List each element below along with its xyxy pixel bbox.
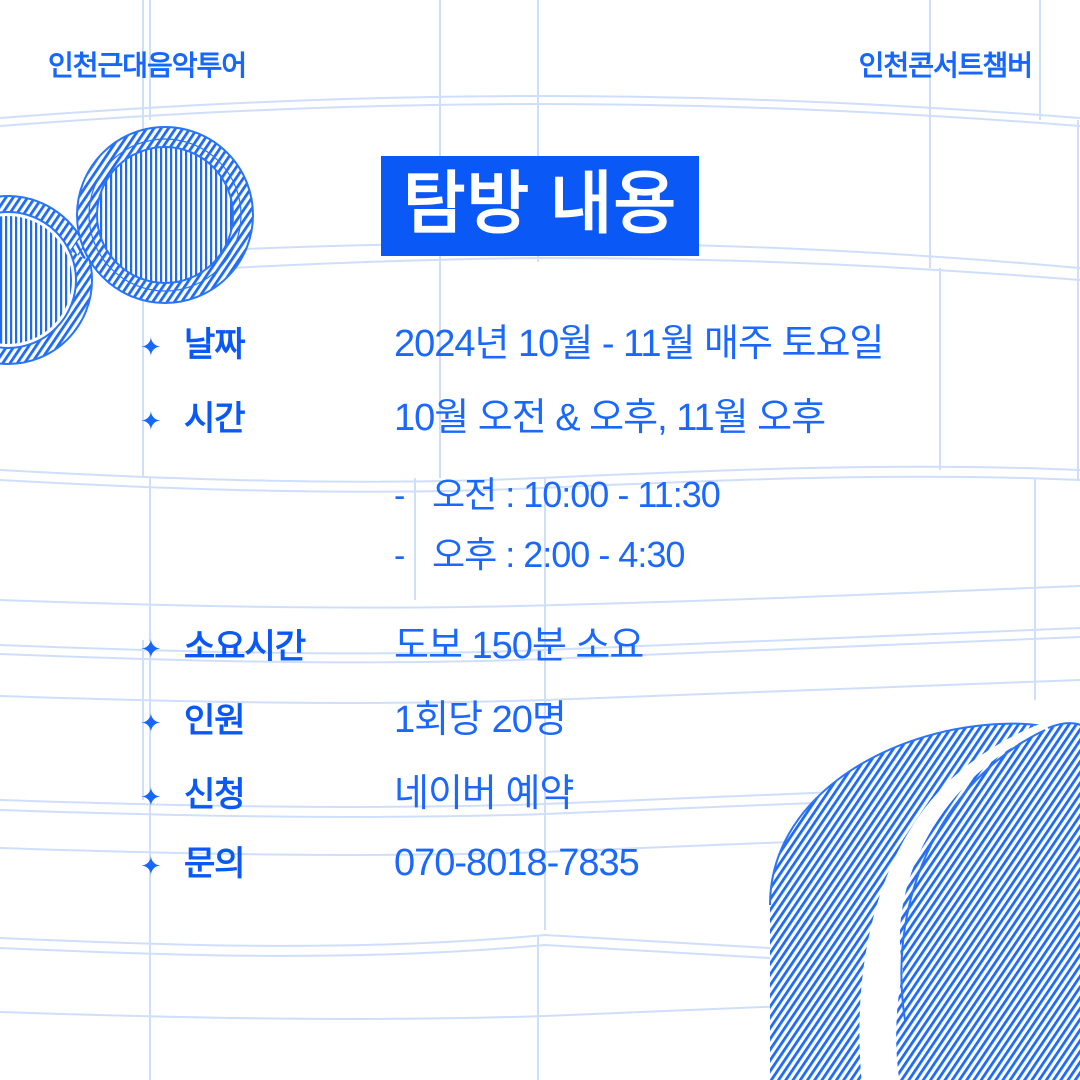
star-bullet-icon: ✦ bbox=[140, 634, 184, 662]
detail-label: 소요시간 bbox=[184, 619, 394, 668]
star-bullet-icon: ✦ bbox=[140, 851, 184, 879]
detail-value: 2024년 10월 - 11월 매주 토요일 bbox=[394, 312, 1040, 367]
detail-value: 1회당 20명 bbox=[394, 688, 1040, 743]
detail-value: 네이버 예약 bbox=[394, 762, 1040, 817]
time-detail-afternoon: - 오후 : 2:00 - 4:30 bbox=[140, 526, 1040, 586]
star-bullet-icon: ✦ bbox=[140, 406, 184, 434]
page-title: 탐방 내용 bbox=[381, 156, 699, 256]
time-detail-morning: - 오전 : 10:00 - 11:30 bbox=[140, 466, 1040, 526]
brand-left: 인천근대음악투어 bbox=[48, 44, 246, 84]
detail-label: 신청 bbox=[184, 767, 394, 816]
detail-row-application: ✦ 신청 네이버 예약 bbox=[140, 762, 1040, 836]
detail-label: 문의 bbox=[184, 836, 394, 885]
time-detail-text: 오후 : 2:00 - 4:30 bbox=[432, 526, 684, 578]
star-bullet-icon: ✦ bbox=[140, 332, 184, 360]
spacer bbox=[140, 596, 1040, 614]
time-detail-sublist: - 오전 : 10:00 - 11:30 - 오후 : 2:00 - 4:30 bbox=[140, 466, 1040, 586]
page-title-wrapper: 탐방 내용 bbox=[0, 156, 1080, 256]
detail-row-date: ✦ 날짜 2024년 10월 - 11월 매주 토요일 bbox=[140, 312, 1040, 386]
detail-value: 070-8018-7835 bbox=[394, 842, 1040, 885]
detail-value: 10월 오전 & 오후, 11월 오후 bbox=[394, 386, 1040, 441]
detail-row-contact: ✦ 문의 070-8018-7835 bbox=[140, 836, 1040, 910]
star-bullet-icon: ✦ bbox=[140, 708, 184, 736]
dash-marker: - bbox=[394, 477, 432, 516]
detail-label: 시간 bbox=[184, 391, 394, 440]
brand-row: 인천근대음악투어 인천콘서트챔버 bbox=[0, 42, 1080, 86]
brand-right: 인천콘서트챔버 bbox=[859, 44, 1032, 84]
detail-row-time: ✦ 시간 10월 오전 & 오후, 11월 오후 bbox=[140, 386, 1040, 460]
detail-row-capacity: ✦ 인원 1회당 20명 bbox=[140, 688, 1040, 762]
detail-row-duration: ✦ 소요시간 도보 150분 소요 bbox=[140, 614, 1040, 688]
detail-label: 날짜 bbox=[184, 317, 394, 366]
detail-label: 인원 bbox=[184, 693, 394, 742]
star-bullet-icon: ✦ bbox=[140, 782, 184, 810]
poster-canvas: 인천근대음악투어 인천콘서트챔버 탐방 내용 ✦ 날짜 2024년 10월 - … bbox=[0, 0, 1080, 1080]
time-detail-text: 오전 : 10:00 - 11:30 bbox=[432, 466, 720, 518]
tour-details-list: ✦ 날짜 2024년 10월 - 11월 매주 토요일 ✦ 시간 10월 오전 … bbox=[140, 312, 1040, 910]
dash-marker: - bbox=[394, 537, 432, 576]
detail-value: 도보 150분 소요 bbox=[394, 614, 1040, 669]
